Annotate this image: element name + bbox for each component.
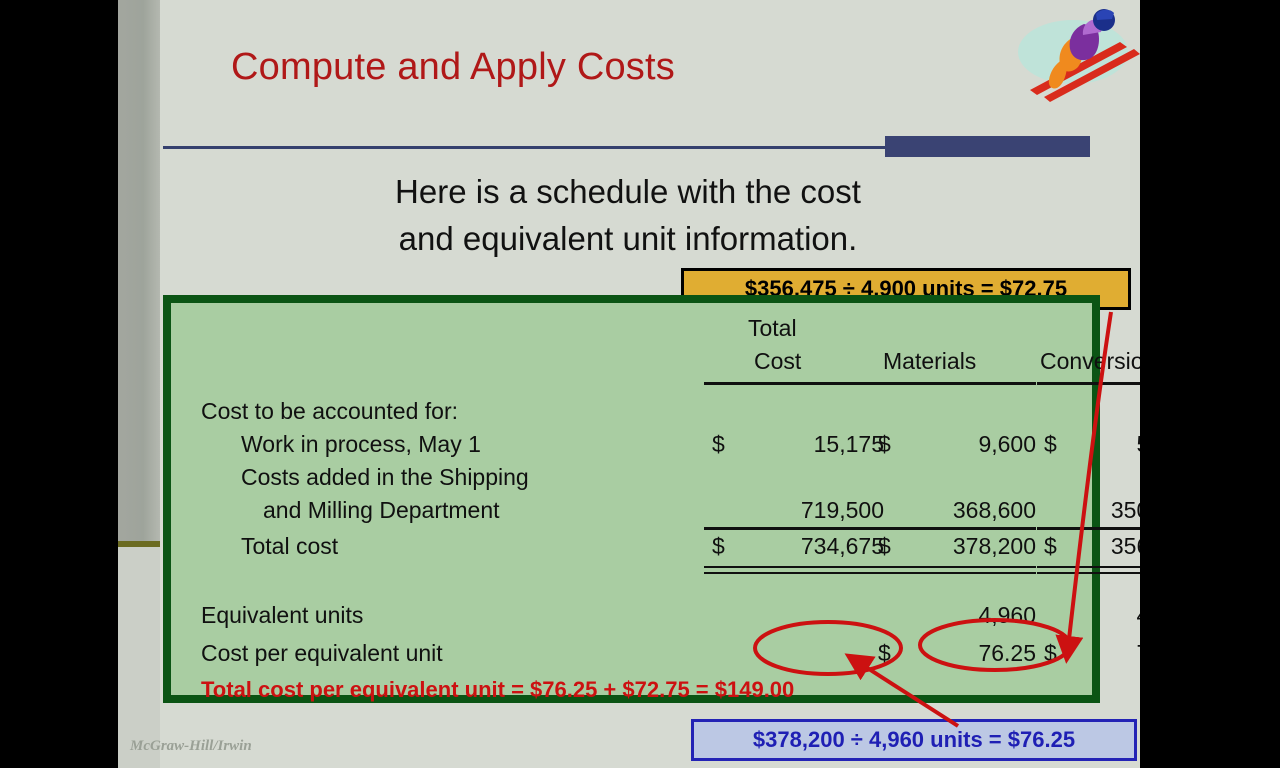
double-rule-conversion-lower (1037, 572, 1140, 574)
row-equivalent-units-conversion-value: 4,900 (1073, 602, 1140, 629)
row-costs-added-total-value: 719,500 (741, 497, 884, 524)
header-accent-bar (885, 136, 1090, 157)
cost-schedule-table: Total Cost Materials Conversion Cost to … (171, 303, 1092, 695)
callout-materials-rate: $378,200 ÷ 4,960 units = $76.25 (691, 719, 1137, 761)
row-wip-conversion-value: 5,575 (1073, 431, 1140, 458)
double-rule-conversion-upper (1037, 566, 1140, 568)
row-cpu-conversion-symbol: $ (1044, 640, 1057, 667)
slide-subtitle: Here is a schedule with the cost and equ… (238, 168, 1018, 262)
row-wip-materials-symbol: $ (878, 431, 891, 458)
header-rule-materials (871, 382, 1036, 385)
row-cpu-conversion-value: 72.75 (1073, 640, 1140, 667)
column-header-materials: Materials (883, 348, 976, 375)
section-label-cost-to-be-accounted: Cost to be accounted for: (201, 398, 458, 425)
slide-stage: Compute and Apply Costs Here is a schedu… (0, 0, 1280, 768)
row-wip-total-symbol: $ (712, 431, 725, 458)
footer-attribution: McGraw-Hill/Irwin (130, 738, 252, 755)
row-wip-conversion-symbol: $ (1044, 431, 1057, 458)
double-rule-materials-lower (871, 572, 1036, 574)
row-total-cost-total-value: 734,675 (741, 533, 884, 560)
header-divider-line (163, 146, 885, 149)
skier-logo (1000, 2, 1140, 114)
double-rule-total-lower (704, 572, 884, 574)
header-rule-conversion (1037, 382, 1140, 385)
row-total-cost-conversion-value: 356,475 (1073, 533, 1140, 560)
double-rule-total-upper (704, 566, 884, 568)
page-title: Compute and Apply Costs (231, 46, 675, 89)
row-total-cost-materials-symbol: $ (878, 533, 891, 560)
cost-schedule-panel: Total Cost Materials Conversion Cost to … (163, 295, 1100, 703)
subtotal-rule-conversion (1037, 527, 1140, 530)
column-header-total-line1: Total (748, 315, 797, 342)
row-label-total-cost: Total cost (241, 533, 338, 560)
row-costs-added-materials-value: 368,600 (907, 497, 1036, 524)
row-wip-materials-value: 9,600 (907, 431, 1036, 458)
column-header-conversion: Conversion (1040, 348, 1140, 375)
column-header-total-line2: Cost (754, 348, 801, 375)
row-cpu-materials-value: 76.25 (907, 640, 1036, 667)
row-cpu-materials-symbol: $ (878, 640, 891, 667)
subtitle-line-2: and equivalent unit information. (238, 215, 1018, 262)
row-total-cost-materials-value: 378,200 (907, 533, 1036, 560)
subtotal-rule-total (704, 527, 884, 530)
row-label-work-in-process: Work in process, May 1 (241, 431, 481, 458)
row-label-equivalent-units: Equivalent units (201, 602, 363, 629)
total-cost-per-unit-note: Total cost per equivalent unit = $76.25 … (201, 677, 794, 703)
row-label-cost-per-equivalent-unit: Cost per equivalent unit (201, 640, 443, 667)
row-total-cost-conversion-symbol: $ (1044, 533, 1057, 560)
left-accent-band-light (118, 547, 160, 768)
double-rule-materials-upper (871, 566, 1036, 568)
row-label-costs-added-line1: Costs added in the Shipping (241, 464, 529, 491)
row-total-cost-total-symbol: $ (712, 533, 725, 560)
header-rule-total (704, 382, 884, 385)
row-equivalent-units-materials-value: 4,960 (907, 602, 1036, 629)
row-costs-added-conversion-value: 350,900 (1073, 497, 1140, 524)
left-accent-band-dark (118, 0, 160, 545)
subtitle-line-1: Here is a schedule with the cost (238, 168, 1018, 215)
row-label-costs-added-line2: and Milling Department (263, 497, 500, 524)
presentation-slide: Compute and Apply Costs Here is a schedu… (118, 0, 1140, 768)
row-wip-total-value: 15,175 (741, 431, 884, 458)
subtotal-rule-materials (871, 527, 1036, 530)
